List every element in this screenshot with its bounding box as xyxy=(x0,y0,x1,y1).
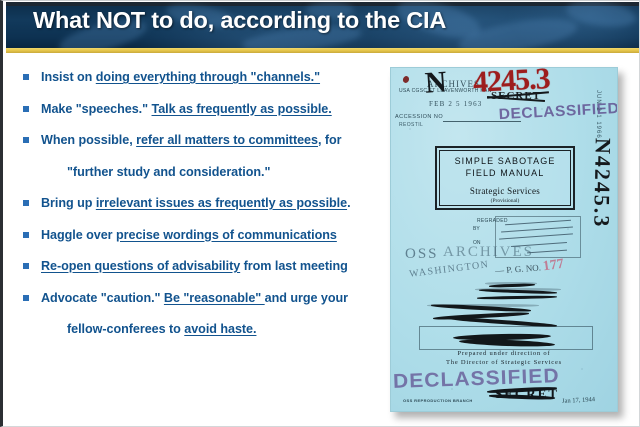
pink-handwritten-mark: 177 xyxy=(542,257,565,276)
bullet-plain: Bring up xyxy=(41,196,96,210)
bullet-emphasis: refer all matters to committees xyxy=(136,133,318,147)
bullet-emphasis: irrelevant issues as frequently as possi… xyxy=(96,196,347,210)
prepared-line-2: The Director of Strategic Services xyxy=(391,359,617,366)
sabotage-manual-cover-image: ARCHIVES USA CGSC FT LEAVENWORTH KAN FEB… xyxy=(390,67,618,412)
bullet-list: Insist on doing everything through "chan… xyxy=(15,67,387,351)
slide-title-banner: What NOT to do, according to the CIA xyxy=(6,2,640,48)
bullet-item: Advocate "caution." Be "reasonable" and … xyxy=(15,288,387,309)
bullet-item: Re-open questions of advisability from l… xyxy=(15,256,387,277)
prepared-line-1: Prepared under direction of xyxy=(391,350,617,357)
regraded-label: REGRADED xyxy=(477,218,508,224)
bullet-plain: and urge your xyxy=(265,291,348,305)
bullet-item: Bring up irrelevant issues as frequently… xyxy=(15,193,387,214)
bullet-plain: , for xyxy=(318,133,342,147)
bullet-square-icon xyxy=(23,137,29,143)
bullet-item: Make "speeches." Talk as frequently as p… xyxy=(15,99,387,120)
by-label: BY xyxy=(473,226,480,232)
bullet-square-icon xyxy=(23,74,29,80)
bullet-plain: Insist on xyxy=(41,70,96,84)
bullet-text: Advocate "caution." Be "reasonable" and … xyxy=(41,288,387,309)
bullet-text: Bring up irrelevant issues as frequently… xyxy=(41,193,387,214)
bullet-item: Insist on doing everything through "chan… xyxy=(15,67,387,88)
oss-stamp: OSS xyxy=(405,246,439,263)
bullet-text: Re-open questions of advisability from l… xyxy=(41,256,387,277)
bullet-emphasis: Be "reasonable" xyxy=(164,291,265,305)
manual-title-line-2: FIELD MANUAL xyxy=(437,167,573,179)
bullet-plain: Advocate "caution." xyxy=(41,291,164,305)
bullet-emphasis: Talk as frequently as possible. xyxy=(152,102,332,116)
bullet-plain: "further study and consideration." xyxy=(67,165,270,179)
paper-speck xyxy=(581,368,583,370)
bullet-text: Insist on doing everything through "chan… xyxy=(41,67,387,88)
bullet-plain: . xyxy=(347,196,350,210)
reostil-label: REOSTIL xyxy=(399,122,423,128)
accession-label: ACCESSION NO xyxy=(395,114,443,120)
bullet-plain: from last meeting xyxy=(240,259,348,273)
bullet-square-icon xyxy=(23,106,29,112)
manual-subtitle: Strategic Services xyxy=(437,186,573,196)
paper-speck xyxy=(409,128,411,130)
handwritten-letter-n: N xyxy=(424,67,448,101)
bullet-emphasis: doing everything through "channels." xyxy=(96,70,320,84)
bullet-plain: fellow-conferees to xyxy=(67,322,184,336)
bullet-square-icon xyxy=(23,295,29,301)
manual-title-line-1: SIMPLE SABOTAGE xyxy=(437,155,573,167)
bullet-emphasis: Re-open questions of advisability xyxy=(41,259,240,273)
bullet-text: Make "speeches." Talk as frequently as p… xyxy=(41,99,387,120)
page-title: What NOT to do, according to the CIA xyxy=(33,7,446,34)
manual-provisional-note: (Provisional) xyxy=(437,198,573,204)
vertical-handwritten-number: N4245.3 xyxy=(588,138,616,229)
date-stamp: FEB 2 5 1963 xyxy=(429,100,483,108)
vertical-date-stamp: JUN 2 1 1966 xyxy=(595,90,601,139)
bullet-emphasis: avoid haste. xyxy=(184,322,256,336)
bullet-plain: Haggle over xyxy=(41,228,116,242)
slide-canvas: What NOT to do, according to the CIA Ins… xyxy=(0,0,640,427)
bullet-plain: When possible, xyxy=(41,133,136,147)
bullet-emphasis: precise wordings of communications xyxy=(116,228,337,242)
bullet-text: "further study and consideration." xyxy=(67,162,387,183)
reproduction-branch-note: OSS REPRODUCTION BRANCH xyxy=(403,398,473,403)
bullet-item: Haggle over precise wordings of communic… xyxy=(15,225,387,246)
bullet-item-continuation: fellow-conferees to avoid haste. xyxy=(15,319,387,340)
bullet-plain: Make "speeches." xyxy=(41,102,152,116)
bullet-item-continuation: "further study and consideration." xyxy=(15,162,387,183)
bullet-square-icon xyxy=(23,200,29,206)
title-gold-divider xyxy=(6,48,640,53)
bullet-text: When possible, refer all matters to comm… xyxy=(41,130,387,151)
bullet-item: When possible, refer all matters to comm… xyxy=(15,130,387,151)
bullet-square-icon xyxy=(23,263,29,269)
bullet-square-icon xyxy=(23,232,29,238)
bullet-text: fellow-conferees to avoid haste. xyxy=(67,319,387,340)
bullet-text: Haggle over precise wordings of communic… xyxy=(41,225,387,246)
manual-title-box: SIMPLE SABOTAGE FIELD MANUAL Strategic S… xyxy=(435,146,575,210)
